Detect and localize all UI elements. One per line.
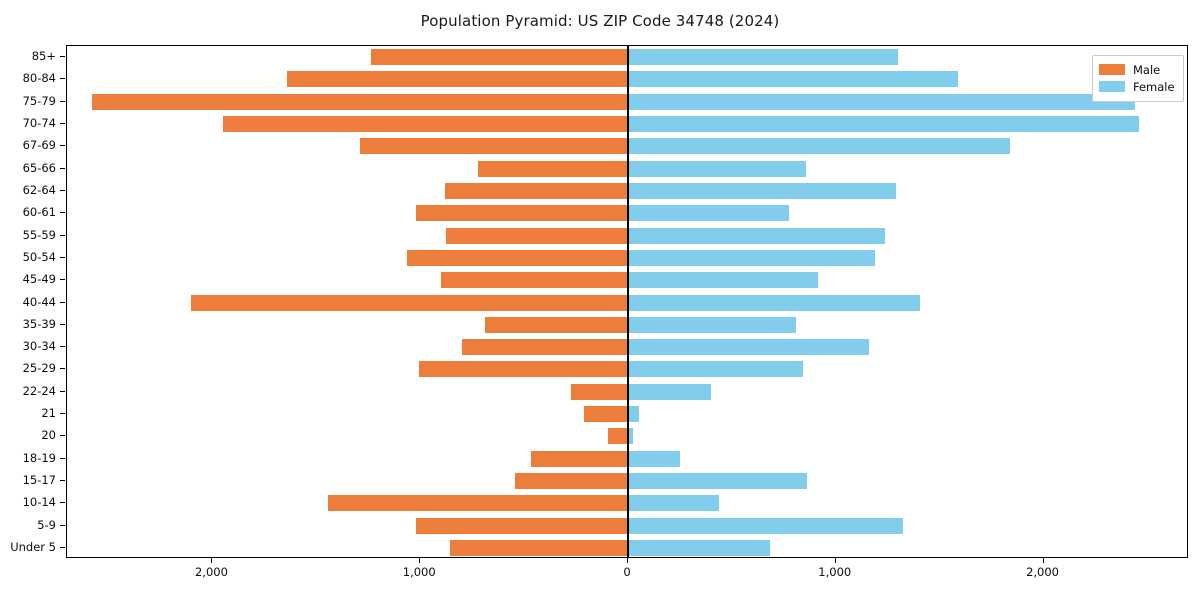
bar-female [628,540,770,556]
bar-male [571,384,628,400]
y-axis-tick-mark [60,168,65,169]
y-axis-tick-mark [60,257,65,258]
bar-female [628,138,1010,154]
x-axis-tick-mark [627,558,628,563]
legend-label-male: Male [1133,63,1160,77]
y-axis-tick-label: 75-79 [23,94,56,108]
bar-female [628,339,869,355]
bar-female [628,317,796,333]
x-axis-tick-mark [419,558,420,563]
y-axis-tick-label: 20 [41,428,56,442]
y-axis-tick-mark [60,279,65,280]
y-axis-tick-label: 25-29 [23,361,56,375]
bar-female [628,272,818,288]
bar-male [584,406,628,422]
y-axis-tick-label: 18-19 [23,451,56,465]
bar-female [628,116,1139,132]
y-axis-tick-mark [60,458,65,459]
y-axis-tick-mark [60,123,65,124]
bar-male [446,228,628,244]
y-axis-tick-label: 21 [41,406,56,420]
y-axis-tick-mark [60,502,65,503]
y-axis-tick-label: 30-34 [23,339,56,353]
bar-male [287,71,628,87]
y-axis-tick-mark [60,346,65,347]
y-axis-tick-mark [60,302,65,303]
x-axis-tick-label: 2,000 [195,565,228,579]
y-axis-tick-label: 35-39 [23,317,56,331]
x-axis-tick-mark [211,558,212,563]
y-axis-tick-mark [60,190,65,191]
bar-female [628,495,719,511]
x-axis-labels: 2,0001,00001,0002,000 [66,565,1188,585]
y-axis-tick-label: 55-59 [23,228,56,242]
bar-female [628,361,803,377]
bar-male [371,49,628,65]
y-axis-labels: 85+80-8475-7970-7467-6965-6662-6460-6155… [0,45,62,558]
bar-female [628,161,806,177]
bar-male [407,250,628,266]
bar-male [441,272,628,288]
y-axis-tick-label: 45-49 [23,272,56,286]
x-axis-tick-label: 2,000 [1026,565,1059,579]
y-axis-tick-label: 22-24 [23,384,56,398]
x-axis-tick-mark [835,558,836,563]
y-axis-tick-label: 15-17 [23,473,56,487]
bar-male [608,428,628,444]
y-axis-tick-label: 80-84 [23,71,56,85]
legend-label-female: Female [1133,80,1175,94]
y-axis-tick-label: 50-54 [23,250,56,264]
chart-title: Population Pyramid: US ZIP Code 34748 (2… [0,12,1200,30]
bar-female [628,295,920,311]
y-axis-tick-label: 40-44 [23,295,56,309]
y-axis-tick-label: 70-74 [23,116,56,130]
bar-female [628,49,898,65]
y-axis-tick-mark [60,56,65,57]
bar-female [628,406,639,422]
x-axis-ticks [66,558,1188,564]
x-axis-tick-label: 1,000 [818,565,851,579]
x-axis-tick-label: 0 [623,565,630,579]
bar-male [92,94,628,110]
plot-inner [67,46,1187,557]
y-axis-tick-mark [60,435,65,436]
y-axis-tick-mark [60,324,65,325]
bar-female [628,94,1135,110]
zero-axis-line [627,46,628,557]
legend-swatch-female [1099,81,1125,92]
bar-female [628,451,680,467]
bar-female [628,473,807,489]
bar-male [191,295,628,311]
legend-swatch-male [1099,64,1125,75]
y-axis-tick-mark [60,413,65,414]
bar-male [462,339,628,355]
y-axis-tick-mark [60,480,65,481]
bar-female [628,384,711,400]
bar-female [628,205,789,221]
y-axis-tick-mark [60,525,65,526]
y-axis-tick-label: 85+ [32,49,56,63]
population-pyramid-figure: Population Pyramid: US ZIP Code 34748 (2… [0,0,1200,600]
y-axis-tick-label: 62-64 [23,183,56,197]
bar-male [478,161,628,177]
y-axis-tick-mark [60,391,65,392]
y-axis-tick-mark [60,78,65,79]
y-axis-tick-mark [60,145,65,146]
bar-male [328,495,628,511]
bar-female [628,71,958,87]
y-axis-tick-mark [60,547,65,548]
bar-male [485,317,628,333]
bar-male [515,473,628,489]
y-axis-tick-label: Under 5 [10,540,56,554]
x-axis-tick-mark [1043,558,1044,563]
bar-male [416,518,628,534]
bar-male [531,451,628,467]
bar-female [628,250,875,266]
bar-female [628,428,633,444]
y-axis-tick-label: 60-61 [23,205,56,219]
bar-male [360,138,628,154]
y-axis-tick-mark [60,101,65,102]
y-axis-tick-mark [60,235,65,236]
y-axis-tick-label: 10-14 [23,495,56,509]
y-axis-tick-mark [60,212,65,213]
bar-female [628,228,885,244]
y-axis-tick-label: 5-9 [37,518,56,532]
x-axis-tick-label: 1,000 [403,565,436,579]
bar-male [445,183,628,199]
bar-male [419,361,628,377]
chart-legend: Male Female [1092,55,1184,102]
legend-item-female: Female [1099,78,1177,95]
y-axis-tick-label: 65-66 [23,161,56,175]
bar-male [450,540,628,556]
bar-male [416,205,628,221]
plot-area [66,45,1188,558]
legend-item-male: Male [1099,61,1177,78]
bar-female [628,518,903,534]
y-axis-tick-mark [60,368,65,369]
y-axis-tick-label: 67-69 [23,138,56,152]
bar-female [628,183,896,199]
bar-male [223,116,628,132]
